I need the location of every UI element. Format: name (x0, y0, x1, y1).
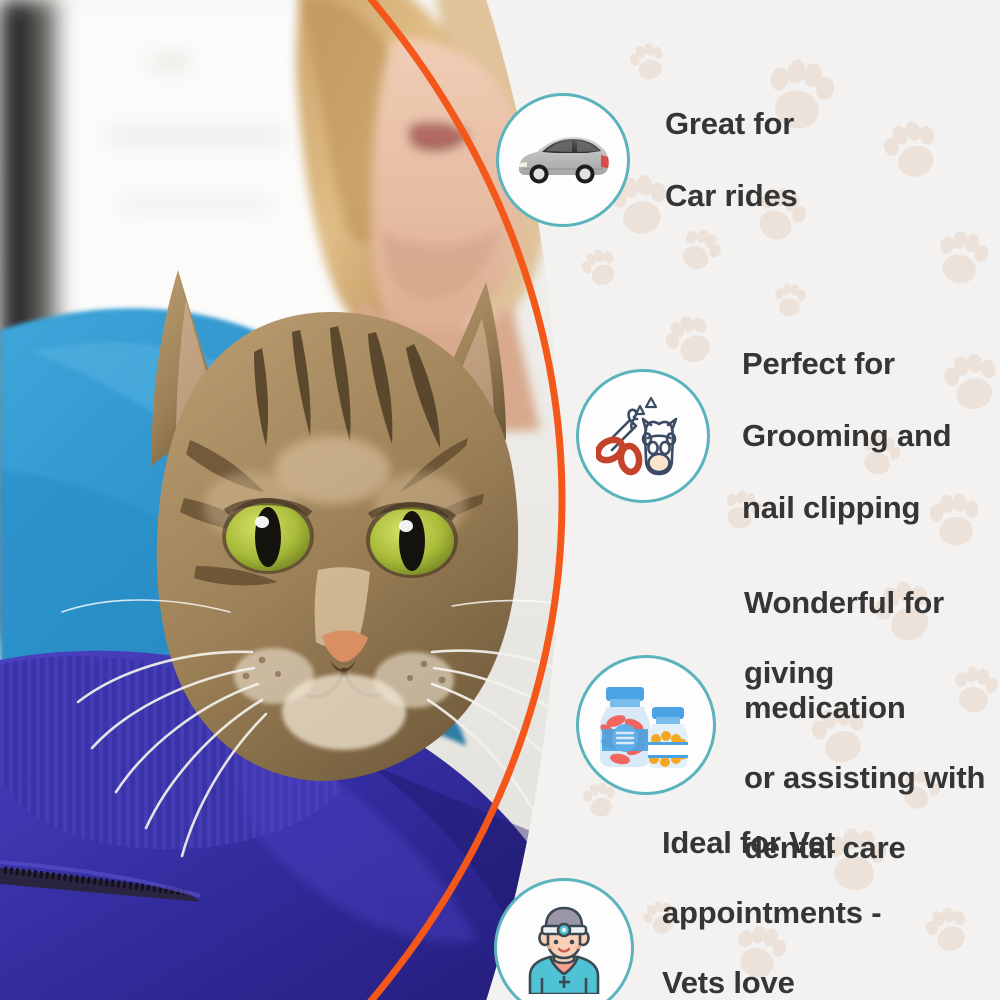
pill-bottles-icon (596, 681, 696, 769)
medication-icon-badge (576, 655, 716, 795)
feature-line: appointments - (662, 895, 881, 930)
feature-vet-appointments: Ideal for Vet appointments - Vets love t… (494, 790, 881, 1000)
feature-line: Vets love (662, 965, 881, 1000)
grooming-icon-badge (576, 369, 710, 503)
feature-line: Wonderful for (744, 585, 1000, 620)
car-icon (515, 129, 611, 191)
feature-line: Ideal for Vet (662, 825, 881, 860)
feature-line: Great for (665, 106, 798, 142)
feature-line: Grooming and (742, 418, 951, 454)
car-icon-badge (496, 93, 630, 227)
feature-line: Car rides (665, 178, 798, 214)
feature-grooming-text: Perfect for Grooming and nail clipping (742, 310, 951, 562)
feature-line: nail clipping (742, 490, 951, 526)
feature-car-rides-text: Great for Car rides (665, 70, 798, 250)
infographic-canvas: Great for Car rides (0, 0, 1000, 1000)
feature-vet-text: Ideal for Vet appointments - Vets love t… (662, 790, 881, 1000)
feature-grooming: Perfect for Grooming and nail clipping (576, 310, 951, 562)
feature-line: Perfect for (742, 346, 951, 382)
feature-line: giving medication (744, 655, 1000, 725)
veterinarian-icon (518, 902, 610, 994)
feature-car-rides: Great for Car rides (496, 70, 798, 250)
nail-clippers-paw-icon (596, 390, 690, 482)
vet-icon-badge (494, 878, 634, 1000)
